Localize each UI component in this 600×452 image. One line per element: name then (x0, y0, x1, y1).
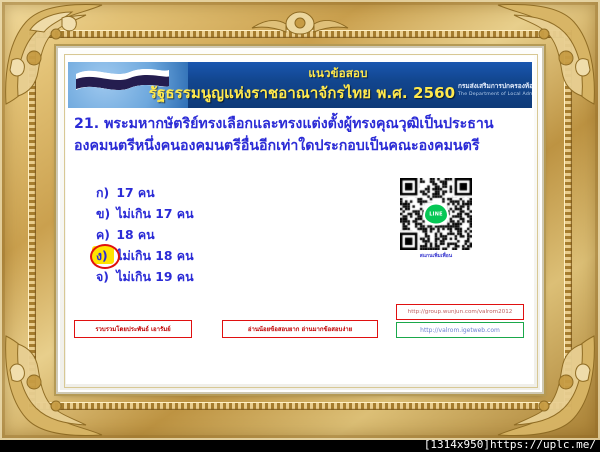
site-url-box[interactable]: http://valrom.igetweb.com (396, 322, 524, 338)
answer-choice-ka[interactable]: ก) 17 คน (96, 182, 396, 203)
qr-caption: สแกนเพิ่มเพื่อน (396, 252, 476, 260)
qr-code-image[interactable]: LINE (400, 178, 472, 250)
answer-key: ค) (96, 224, 112, 245)
answer-choice-kho2[interactable]: ค) 18 คน (96, 224, 396, 245)
frame-moulding-left (28, 30, 36, 410)
answer-choice-ngo[interactable]: ง) ไม่เกิน 18 คน (96, 245, 396, 266)
banner-title: รัฐธรรมนูญแห่งราชอาณาจักรไทย พ.ศ. 2560 (146, 81, 458, 105)
answer-label: ไม่เกิน 18 คน (116, 248, 193, 263)
answer-label: ไม่เกิน 17 คน (116, 206, 193, 221)
department-name-thai: กรมส่งเสริมการปกครองท้องถิ่น (458, 83, 532, 90)
department-name-english: The Department of Local Administration (458, 92, 532, 97)
answer-choice-kho[interactable]: ข) ไม่เกิน 17 คน (96, 203, 396, 224)
answer-choice-cho[interactable]: จ) ไม่เกิน 19 คน (96, 266, 396, 287)
answer-label: ไม่เกิน 19 คน (116, 269, 193, 284)
site-url-text: http://valrom.igetweb.com (420, 327, 500, 334)
credit-box: รวบรวมโดยประพันธ์ เอารัมย์ (74, 320, 192, 338)
question-text: 21. พระมหากษัตริย์ทรงเลือกและทรงแต่งตั้ง… (74, 114, 526, 157)
answer-key: ข) (96, 203, 112, 224)
line-logo-label: LINE (429, 211, 442, 217)
frame-crest-top-center (248, 8, 352, 38)
motto-text: อ่านน้อยข้อสอบยาก อ่านมากข้อสอบง่าย (248, 324, 352, 334)
slide-header-banner: แนวข้อสอบ รัฐธรรมนูญแห่งราชอาณาจักรไทย พ… (68, 62, 532, 108)
group-url-text: http://group.wunjun.com/valrom2012 (408, 309, 513, 315)
answer-choice-list: ก) 17 คน ข) ไม่เกิน 17 คน ค) 18 คน ง) ไม… (96, 182, 396, 287)
answer-label: 18 คน (116, 227, 154, 242)
group-url-box[interactable]: http://group.wunjun.com/valrom2012 (396, 304, 524, 320)
answer-label: 17 คน (116, 185, 154, 200)
screenshot-canvas: แนวข้อสอบ รัฐธรรมนูญแห่งราชอาณาจักรไทย พ… (0, 0, 600, 452)
answer-key: ก) (96, 182, 112, 203)
motto-box: อ่านน้อยข้อสอบยาก อ่านมากข้อสอบง่าย (222, 320, 378, 338)
frame-moulding-right (564, 30, 572, 410)
qr-code-block: LINE สแกนเพิ่มเพื่อน (396, 178, 476, 260)
credit-text: รวบรวมโดยประพันธ์ เอารัมย์ (95, 324, 170, 334)
answer-circle-mark (90, 244, 120, 269)
answer-key: จ) (96, 266, 112, 287)
watermark-text: [1314x950]https://uplc.me/ (424, 438, 596, 451)
line-logo-icon: LINE (423, 203, 449, 226)
exam-slide: แนวข้อสอบ รัฐธรรมนูญแห่งราชอาณาจักรไทย พ… (66, 56, 534, 384)
frame-moulding-bottom (28, 402, 572, 410)
